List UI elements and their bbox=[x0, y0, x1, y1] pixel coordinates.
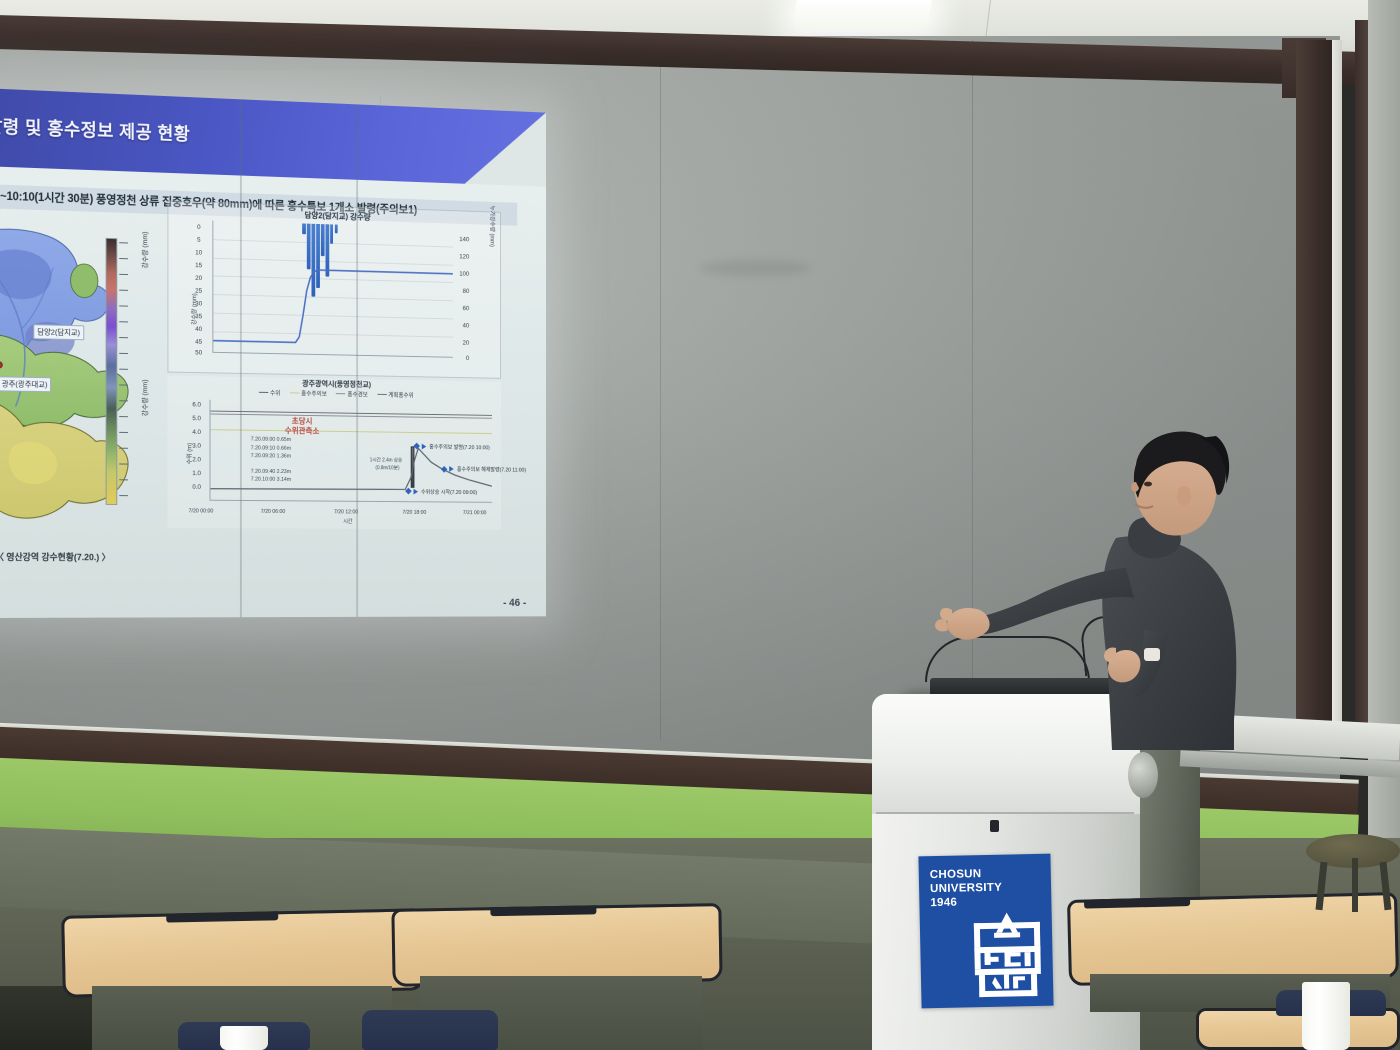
chart2-xtick: 7/20 18:00 bbox=[402, 510, 426, 516]
chart1-y2tick: 40 bbox=[463, 323, 470, 330]
presenter-figure bbox=[930, 420, 1270, 750]
podium-knob[interactable] bbox=[1128, 752, 1158, 798]
chosun-emblem-icon bbox=[970, 906, 1046, 1002]
wall-column-dark bbox=[1296, 40, 1332, 740]
paper-cup-left bbox=[220, 1026, 268, 1050]
chart1-y2tick: 60 bbox=[463, 305, 470, 312]
wall-light-strip bbox=[1332, 40, 1342, 740]
chart2-ylabel: 수위 (m) bbox=[185, 443, 194, 464]
chart1-ytick: 50 bbox=[195, 350, 202, 357]
map-colorbar-ticks bbox=[119, 238, 134, 505]
chart1-y2tick: 120 bbox=[459, 253, 469, 260]
chart1-y2tick: 80 bbox=[463, 288, 470, 295]
wrist-watch-icon bbox=[1144, 648, 1160, 661]
presenter bbox=[930, 420, 1270, 750]
chart-rainfall-waterlevel: 담양2(담지교) 강수량 0 5 10 15 20 25 30 35 40 45… bbox=[167, 200, 501, 378]
chart1-ytick: 10 bbox=[195, 249, 202, 256]
map-colorbar-unit-top: 강수량 (mm) bbox=[140, 231, 150, 268]
chart1-ytick: 45 bbox=[195, 339, 202, 346]
paper-cup-right bbox=[1302, 982, 1350, 1050]
desk-front-center bbox=[391, 903, 722, 987]
screen-mullion-shadow bbox=[240, 99, 242, 617]
presenter-eye bbox=[1144, 482, 1152, 487]
desk-right bbox=[1067, 892, 1399, 986]
legend-item: 계획홍수위 bbox=[377, 390, 414, 399]
chart1-ytick: 40 bbox=[195, 326, 202, 333]
callout-advisory-issued: 홍수주의보 발령(7.20 10:00) bbox=[415, 442, 490, 451]
map-caption: 〈 영산강역 강수현황(7.20.) 〉 bbox=[0, 550, 140, 563]
ceiling-light-icon bbox=[793, 0, 931, 28]
logo-line-2: UNIVERSITY bbox=[930, 881, 1002, 897]
slide-page-number: - 46 - bbox=[503, 597, 526, 608]
chart2-ytick: 1.0 bbox=[192, 470, 201, 477]
chart1-y2tick: 0 bbox=[466, 355, 469, 362]
chart2-ytick: 6.0 bbox=[192, 401, 201, 408]
lecture-hall-scene: 발령 및 홍수정보 제공 현황 8:40~10:10(1시간 30분) 풍영정천… bbox=[0, 0, 1400, 1050]
chart1-y2label: 누가강수량 (mm) bbox=[488, 205, 496, 247]
presenter-ear bbox=[1177, 486, 1191, 506]
map-blob-green bbox=[71, 264, 98, 298]
legend-item: 홍수주의보 bbox=[290, 388, 327, 397]
chart1-ytick: 5 bbox=[197, 237, 200, 244]
chart1-ytick: 15 bbox=[195, 262, 202, 269]
podium-seam bbox=[876, 812, 1134, 814]
chart2-xtick: 7/20 12:00 bbox=[334, 509, 358, 515]
desk-front-left bbox=[61, 908, 425, 998]
chart2-xlabel: 시간 bbox=[343, 517, 352, 525]
chart1-y2tick: 100 bbox=[459, 271, 469, 278]
chart1-y2tick: 140 bbox=[459, 236, 469, 243]
chart2-ytick: 3.0 bbox=[192, 443, 201, 450]
logo-line-1: CHOSUN bbox=[930, 867, 1002, 883]
arrow-icon bbox=[414, 488, 419, 494]
chart2-ytick: 4.0 bbox=[192, 429, 201, 436]
chart2-ytick: 2.0 bbox=[192, 456, 201, 463]
rainfall-map: 담양2(담지교) 광주(광주대교) 〈 영산강역 강수현황(7.20.) 〉 강… bbox=[0, 217, 160, 548]
chart2-xtick: 7/21 00:00 bbox=[463, 510, 487, 516]
projection-screen: 발령 및 홍수정보 제공 현황 8:40~10:10(1시간 30분) 풍영정천… bbox=[0, 88, 546, 618]
chart1-cumulative-line bbox=[213, 221, 453, 352]
map-label-gwangju: 광주(광주대교) bbox=[0, 376, 51, 392]
slide-band-cut bbox=[465, 109, 546, 187]
stool-leg bbox=[1352, 858, 1358, 912]
chart2-plot: 초당시 수위관측소 7.20.09:00 0.65m 7.20.09:10 0.… bbox=[210, 400, 492, 503]
chart2-water-level-curve bbox=[210, 400, 491, 502]
logo-text: CHOSUN UNIVERSITY 1946 bbox=[930, 867, 1003, 911]
arrow-icon bbox=[422, 443, 427, 449]
marker-diamond-icon bbox=[405, 488, 412, 495]
chart1-ytick: 0 bbox=[197, 224, 200, 231]
legend-item: 홍수경보 bbox=[336, 389, 368, 398]
chart-hydrograph: 광주광역시(풍영정천교) 수위 홍수주의보 홍수경보 계획홍수위 6.0 5.0… bbox=[167, 375, 501, 529]
marker-diamond-icon bbox=[414, 443, 420, 450]
chart1-y2tick: 20 bbox=[463, 340, 470, 347]
legend-item: 수위 bbox=[259, 388, 281, 397]
chart1-ylabel: 강수량 (mm) bbox=[189, 293, 198, 325]
callout-rise-start: 수위상승 시작(7.20 09:00) bbox=[406, 487, 477, 495]
map-colorbar bbox=[106, 238, 118, 505]
presenter-left-hand bbox=[947, 608, 989, 640]
wall-seam bbox=[660, 40, 661, 740]
screen-mullion-shadow bbox=[356, 104, 358, 617]
chart1-plot bbox=[212, 221, 452, 358]
map-colorbar-unit-bottom: 강수량 (mm) bbox=[140, 379, 150, 416]
podium-lock-icon[interactable] bbox=[990, 820, 999, 832]
wall-smudge bbox=[700, 260, 810, 276]
chart2-ytick: 5.0 bbox=[192, 415, 201, 422]
callout-advisory-lifted: 홍수주의보 해제발령(7.20 11:00) bbox=[442, 465, 526, 474]
slide-body: 8:40~10:10(1시간 30분) 풍영정천 상류 집중호우(약 80mm)… bbox=[0, 166, 546, 618]
presenter-torso bbox=[1102, 536, 1236, 750]
chosun-university-logo-plate: CHOSUN UNIVERSITY 1946 bbox=[918, 854, 1053, 1009]
marker-diamond-icon bbox=[441, 466, 447, 473]
chart2-ytick: 0.0 bbox=[192, 484, 201, 491]
map-label-damyang: 담양2(담지교) bbox=[33, 324, 84, 340]
arrow-icon bbox=[450, 466, 455, 472]
chair-front-center[interactable] bbox=[362, 1010, 498, 1050]
chart2-xtick: 7/20 06:00 bbox=[261, 509, 285, 515]
chart2-xtick: 7/20 00:00 bbox=[189, 508, 214, 514]
chart1-ytick: 20 bbox=[195, 275, 202, 282]
